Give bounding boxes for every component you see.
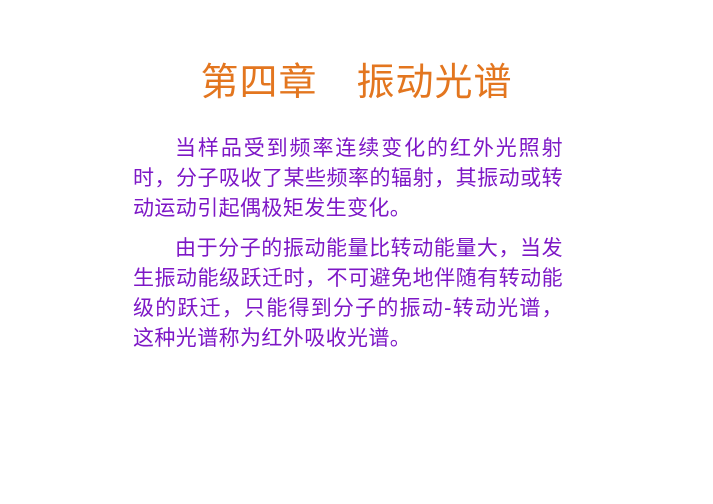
paragraph-1: 当样品受到频率连续变化的红外光照射时，分子吸收了某些频率的辐射，其振动或转动运动… bbox=[133, 133, 563, 223]
slide-body: 当样品受到频率连续变化的红外光照射时，分子吸收了某些频率的辐射，其振动或转动运动… bbox=[133, 133, 563, 353]
slide-canvas: 第四章 振动光谱 当样品受到频率连续变化的红外光照射时，分子吸收了某些频率的辐射… bbox=[0, 0, 713, 504]
paragraph-2: 由于分子的振动能量比转动能量大，当发生振动能级跃迁时，不可避免地伴随有转动能级的… bbox=[133, 233, 563, 353]
page-title: 第四章 振动光谱 bbox=[0, 59, 713, 105]
paragraph-2-text: 由于分子的振动能量比转动能量大，当发生振动能级跃迁时，不可避免地伴随有转动能级的… bbox=[133, 236, 563, 350]
paragraph-1-text: 当样品受到频率连续变化的红外光照射时，分子吸收了某些频率的辐射，其振动或转动运动… bbox=[133, 136, 563, 220]
